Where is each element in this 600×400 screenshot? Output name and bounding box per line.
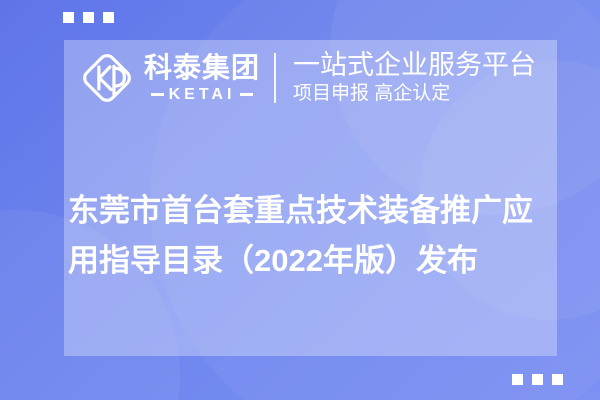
decor-square-icon: [552, 374, 563, 385]
decor-square-icon: [83, 12, 94, 23]
dash-right-icon: [240, 93, 253, 96]
decor-square-icon: [512, 374, 523, 385]
slogan-main: 一站式企业服务平台: [293, 50, 536, 80]
decor-square-icon: [103, 12, 114, 23]
slogan-block: 一站式企业服务平台 项目申报 高企认定: [293, 50, 536, 106]
decor-dots-bottom-right: [512, 374, 563, 385]
brand-wordmark: 科泰集团 KETAI: [144, 54, 260, 103]
brand-name-cn: 科泰集团: [144, 54, 260, 82]
brand-lockup: 科泰集团 KETAI: [72, 49, 260, 107]
vertical-divider: [274, 53, 276, 103]
promo-banner: 科泰集团 KETAI 一站式企业服务平台 项目申报 高企认定 东莞市首台套重点技…: [0, 0, 600, 400]
slogan-sub: 项目申报 高企认定: [293, 82, 536, 106]
decor-dots-top-left: [63, 12, 114, 23]
ketai-logo-icon: [78, 49, 136, 107]
banner-header: 科泰集团 KETAI 一站式企业服务平台 项目申报 高企认定: [72, 49, 557, 107]
content-panel: 科泰集团 KETAI 一站式企业服务平台 项目申报 高企认定 东莞市首台套重点技…: [64, 40, 557, 356]
headline-title: 东莞市首台套重点技术装备推广应用指导目录（2022年版）发布: [64, 186, 557, 286]
decor-square-icon: [532, 374, 543, 385]
brand-name-en: KETAI: [169, 87, 236, 103]
brand-name-en-row: KETAI: [151, 87, 254, 103]
decor-square-icon: [63, 12, 74, 23]
dash-left-icon: [151, 93, 164, 96]
